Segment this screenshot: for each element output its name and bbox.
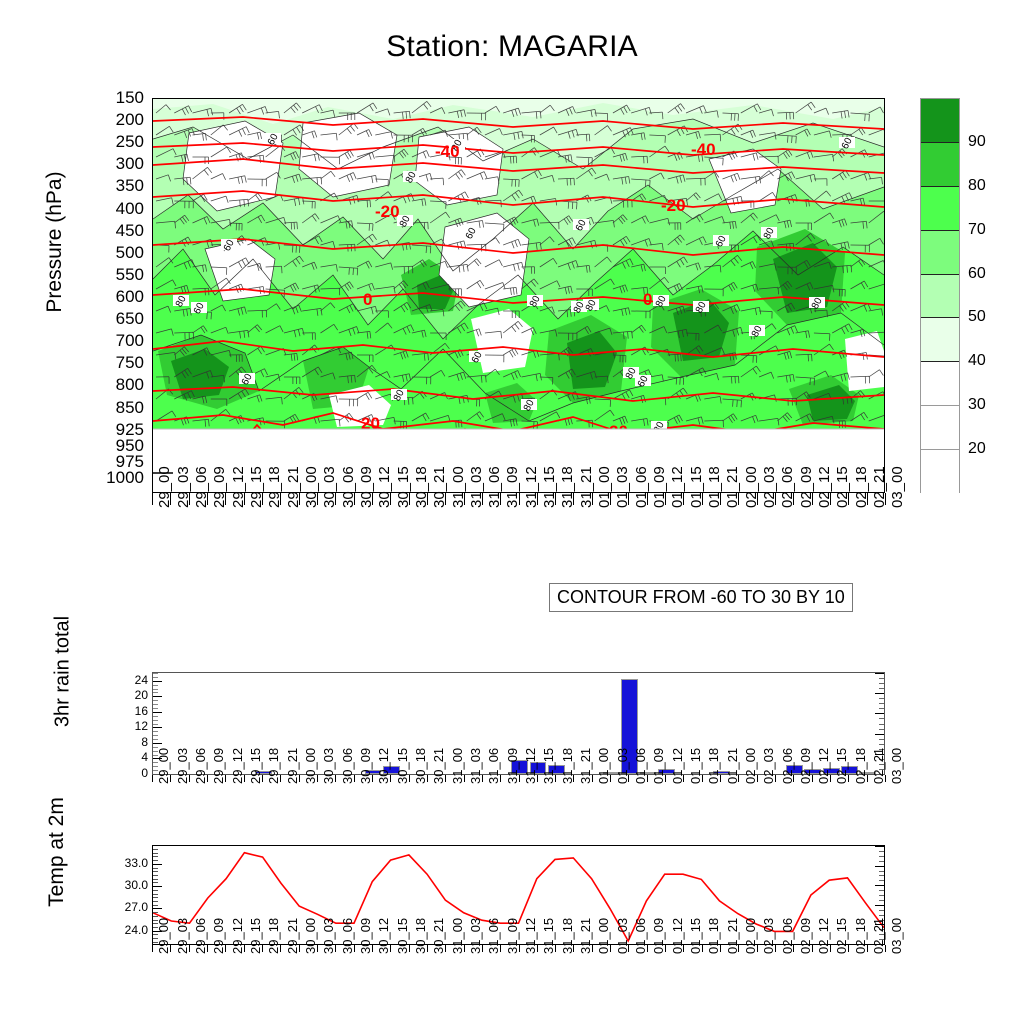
rain-panel-right-tick <box>875 734 884 735</box>
x-tick <box>280 775 281 782</box>
x-tick <box>885 775 886 782</box>
temp-panel-right-tick <box>879 856 884 857</box>
x-tick <box>830 945 831 952</box>
x-tick <box>867 775 868 782</box>
x-tick <box>152 945 153 952</box>
colorbar-band-3 <box>921 231 959 275</box>
temp-minor-tick <box>153 908 162 909</box>
x-tick <box>702 945 703 952</box>
temp-minor-tick <box>153 849 158 850</box>
x-tick <box>592 493 593 505</box>
rain-tick-4: 4 <box>104 751 148 763</box>
pressure-tick-300: 300 <box>84 155 144 172</box>
rain-panel-right-tick <box>879 739 884 740</box>
x-tick <box>573 945 574 952</box>
x-tick <box>427 493 428 505</box>
svg-text:0: 0 <box>643 290 652 309</box>
x-tick <box>555 775 556 782</box>
svg-text:0: 0 <box>363 290 372 309</box>
x-tick <box>335 493 336 505</box>
rain-axis-labels: 04812162024 <box>100 672 148 775</box>
colorbar-band-1 <box>921 143 959 187</box>
x-tick <box>500 493 501 505</box>
temp-axis-labels: 24.027.030.033.0 <box>92 845 148 945</box>
x-tick <box>757 493 758 505</box>
temp-panel-right-tick <box>879 895 884 896</box>
x-tick <box>299 493 300 505</box>
x-tick <box>170 775 171 782</box>
x-tick <box>665 493 666 505</box>
x-tick <box>244 945 245 952</box>
cross-section-x-axis: 29_0029_0329_0629_0929_1229_1529_1829_21… <box>152 493 885 583</box>
x-tick <box>409 493 410 505</box>
x-tick <box>683 945 684 952</box>
x-tick <box>757 775 758 782</box>
temp-minor-tick <box>153 897 158 898</box>
temp-minor-tick <box>153 890 158 891</box>
x-tick <box>244 493 245 505</box>
pressure-tick-150: 150 <box>84 89 144 106</box>
x-tick <box>317 945 318 952</box>
rain-minor-tick <box>153 704 158 705</box>
x-tick <box>152 775 153 782</box>
colorbar-band-6 <box>921 362 959 406</box>
x-tick <box>738 493 739 505</box>
temp-panel-right-tick <box>879 851 884 852</box>
x-tick <box>812 493 813 505</box>
x-tick <box>354 945 355 952</box>
temp-axis-title: Temp at 2m <box>45 737 69 967</box>
colorbar-band-7 <box>921 406 959 450</box>
x-tick <box>519 945 520 952</box>
humidity-colorbar <box>920 98 960 493</box>
x-tick <box>775 493 776 505</box>
x-tick <box>500 945 501 952</box>
rain-panel-right-tick <box>879 724 884 725</box>
x-tick <box>317 493 318 505</box>
x-tick <box>610 775 611 782</box>
x-tick <box>848 493 849 505</box>
rain-tick-0: 0 <box>104 767 148 779</box>
rain-minor-tick <box>153 689 158 690</box>
x-tick <box>354 493 355 505</box>
x-tick <box>354 775 355 782</box>
x-tick <box>628 945 629 952</box>
x-tick <box>720 775 721 782</box>
temp-panel-right-tick <box>879 915 884 916</box>
x-tick <box>830 775 831 782</box>
x-tick <box>390 945 391 952</box>
x-tick <box>848 945 849 952</box>
cross-section-svg: 60 60 60 60 60 60 60 60 60 60 80 80 80 8… <box>153 99 884 492</box>
x-tick <box>317 775 318 782</box>
temp-panel-right-tick <box>875 905 884 906</box>
x-tick <box>702 493 703 505</box>
x-tick <box>445 493 446 505</box>
temp-minor-tick <box>153 886 162 887</box>
contour-range-note: CONTOUR FROM -60 TO 30 BY 10 <box>549 583 853 612</box>
x-tick <box>152 493 153 505</box>
x-tick <box>189 493 190 505</box>
pressure-tick-1000: 1000 <box>84 469 144 486</box>
rain-panel-right-tick <box>879 688 884 689</box>
pressure-tick-550: 550 <box>84 266 144 283</box>
x-tick <box>207 945 208 952</box>
rain-minor-tick <box>153 681 162 682</box>
rain-minor-tick <box>153 720 158 721</box>
rain-panel-right-tick <box>879 729 884 730</box>
x-tick <box>390 493 391 505</box>
x-tick <box>592 945 593 952</box>
pressure-tick-250: 250 <box>84 133 144 150</box>
svg-text:-40: -40 <box>691 140 716 159</box>
temp-x-axis: 29_0029_0329_0629_0929_1229_1529_1829_21… <box>152 945 885 1015</box>
temp-minor-tick <box>153 916 158 917</box>
rain-minor-tick <box>153 700 158 701</box>
colorbar-band-4 <box>921 275 959 319</box>
pressure-tick-500: 500 <box>84 244 144 261</box>
temp-panel-right-tick <box>879 910 884 911</box>
rain-panel-right-tick <box>879 718 884 719</box>
x-tick <box>519 775 520 782</box>
x-tick <box>500 775 501 782</box>
x-tick <box>812 775 813 782</box>
colorbar-band-8 <box>921 450 959 494</box>
x-tick <box>482 945 483 952</box>
x-tick <box>280 945 281 952</box>
temp-minor-tick <box>153 901 158 902</box>
rain-tick-8: 8 <box>104 736 148 748</box>
pressure-tick-200: 200 <box>84 111 144 128</box>
rain-panel-right-tick <box>879 744 884 745</box>
x-tick <box>482 775 483 782</box>
x-tick <box>409 945 410 952</box>
pressure-tick-600: 600 <box>84 288 144 305</box>
temp-minor-tick <box>153 875 158 876</box>
colorbar-label-60: 60 <box>968 266 986 282</box>
rain-minor-tick <box>153 731 158 732</box>
x-tick <box>665 775 666 782</box>
x-tick <box>573 493 574 505</box>
rain-minor-tick <box>153 727 162 728</box>
x-tick <box>665 945 666 952</box>
x-tick <box>280 493 281 505</box>
x-tick <box>867 493 868 505</box>
x-tick <box>610 945 611 952</box>
pressure-tick-850: 850 <box>84 399 144 416</box>
x-tick <box>573 775 574 782</box>
x-tick <box>262 493 263 505</box>
rain-panel-right-tick <box>879 708 884 709</box>
x-tick <box>555 493 556 505</box>
x-tick <box>464 945 465 952</box>
temp-minor-tick <box>153 856 158 857</box>
x-tick <box>537 493 538 505</box>
x-tick <box>628 775 629 782</box>
temp-minor-tick <box>153 871 158 872</box>
rain-minor-tick <box>153 677 158 678</box>
x-tick <box>628 493 629 505</box>
rain-panel-right-tick <box>875 673 884 674</box>
temp-panel-right-tick <box>879 871 884 872</box>
svg-text:-20: -20 <box>661 196 686 215</box>
x-tick <box>189 775 190 782</box>
x-tick <box>445 945 446 952</box>
colorbar-band-2 <box>921 187 959 231</box>
rain-minor-tick <box>153 739 158 740</box>
colorbar-label-90: 90 <box>968 134 986 150</box>
rain-tick-20: 20 <box>104 689 148 701</box>
rain-panel-right-tick <box>875 713 884 714</box>
x-tick <box>793 775 794 782</box>
rain-minor-tick <box>153 743 162 744</box>
x-tick <box>372 775 373 782</box>
x-tick <box>848 775 849 782</box>
x-tick <box>793 493 794 505</box>
x-tick <box>189 945 190 952</box>
x-tick <box>445 775 446 782</box>
x-tick <box>299 775 300 782</box>
pressure-tick-800: 800 <box>84 376 144 393</box>
pressure-tick-350: 350 <box>84 177 144 194</box>
x-tick <box>885 945 886 952</box>
temp-panel-right-tick <box>879 900 884 901</box>
x-tick <box>207 775 208 782</box>
x-tick <box>244 775 245 782</box>
svg-text:-20: -20 <box>375 202 400 221</box>
x-tick <box>793 945 794 952</box>
colorbar-label-50: 50 <box>968 309 986 325</box>
rain-tick-16: 16 <box>104 705 148 717</box>
rain-tick-24: 24 <box>104 674 148 686</box>
temp-minor-tick <box>153 853 158 854</box>
x-tick <box>830 493 831 505</box>
x-tick <box>812 945 813 952</box>
x-tick <box>683 775 684 782</box>
x-tick <box>867 945 868 952</box>
cross-section-plot: 60 60 60 60 60 60 60 60 60 60 80 80 80 8… <box>152 98 885 493</box>
x-tick <box>775 945 776 952</box>
temp-tick-33.0: 33.0 <box>96 857 148 869</box>
colorbar-label-30: 30 <box>968 397 986 413</box>
colorbar-band-0 <box>921 99 959 143</box>
colorbar-label-80: 80 <box>968 178 986 194</box>
temp-minor-tick <box>153 894 158 895</box>
temp-panel-right-tick <box>875 866 884 867</box>
rain-panel-right-tick <box>875 693 884 694</box>
x-tick <box>702 775 703 782</box>
rain-minor-tick <box>153 708 158 709</box>
x-tick <box>482 493 483 505</box>
x-tick <box>610 493 611 505</box>
x-tick <box>225 775 226 782</box>
temp-panel-right-tick <box>875 846 884 847</box>
temp-panel-right-tick <box>875 885 884 886</box>
rain-panel-right-tick <box>879 683 884 684</box>
x-tick <box>335 945 336 952</box>
pressure-tick-750: 750 <box>84 354 144 371</box>
colorbar-label-20: 20 <box>968 441 986 457</box>
x-tick <box>720 945 721 952</box>
x-tick <box>738 945 739 952</box>
rain-minor-tick <box>153 724 158 725</box>
x-tick <box>372 493 373 505</box>
x-label-03_00: 03_00 <box>891 466 905 508</box>
temp-minor-tick <box>153 864 162 865</box>
x-tick <box>170 493 171 505</box>
rain-minor-tick <box>153 735 158 736</box>
pressure-tick-650: 650 <box>84 310 144 327</box>
x-label-03_00: 03_00 <box>890 918 904 954</box>
rain-minor-tick <box>153 692 158 693</box>
rain-tick-12: 12 <box>104 720 148 732</box>
x-tick <box>757 945 758 952</box>
rain-minor-tick <box>153 716 158 717</box>
x-tick <box>647 493 648 505</box>
pressure-axis-title: Pressure (hPa) <box>43 127 67 357</box>
rain-minor-tick <box>153 685 158 686</box>
x-tick <box>335 775 336 782</box>
rain-panel-right-tick <box>879 703 884 704</box>
pressure-tick-700: 700 <box>84 332 144 349</box>
x-tick <box>775 775 776 782</box>
temp-panel-right-tick <box>879 890 884 891</box>
x-tick <box>537 775 538 782</box>
x-tick <box>592 775 593 782</box>
x-tick <box>537 945 538 952</box>
x-tick <box>427 945 428 952</box>
x-tick <box>299 945 300 952</box>
x-tick <box>464 775 465 782</box>
x-tick <box>225 945 226 952</box>
temp-minor-tick <box>153 912 158 913</box>
x-tick <box>647 775 648 782</box>
colorbar-label-40: 40 <box>968 353 986 369</box>
colorbar-band-5 <box>921 318 959 362</box>
temp-minor-tick <box>153 879 158 880</box>
rain-x-axis: 29_0029_0329_0629_0929_1229_1529_1829_21… <box>152 775 885 845</box>
x-tick <box>207 493 208 505</box>
temp-minor-tick <box>153 882 158 883</box>
x-tick <box>555 945 556 952</box>
rain-minor-tick <box>153 673 158 674</box>
x-tick <box>647 945 648 952</box>
x-tick <box>683 493 684 505</box>
pressure-axis-labels: 1502002503003504004505005506006507007508… <box>78 98 144 493</box>
x-tick <box>225 493 226 505</box>
colorbar-label-70: 70 <box>968 222 986 238</box>
x-tick <box>390 775 391 782</box>
temp-panel-right-tick <box>879 861 884 862</box>
temp-panel-right-tick <box>879 880 884 881</box>
temp-minor-tick <box>153 860 158 861</box>
x-label-03_00: 03_00 <box>890 748 904 784</box>
page-title: Station: MAGARIA <box>0 30 1024 64</box>
temp-tick-30.0: 30.0 <box>96 879 148 891</box>
pressure-tick-450: 450 <box>84 222 144 239</box>
temp-minor-tick <box>153 868 158 869</box>
x-tick <box>262 775 263 782</box>
rain-minor-tick <box>153 712 162 713</box>
pressure-tick-400: 400 <box>84 200 144 217</box>
x-tick <box>262 945 263 952</box>
x-tick <box>409 775 410 782</box>
x-tick <box>464 493 465 505</box>
temp-tick-27.0: 27.0 <box>96 901 148 913</box>
svg-text:-40: -40 <box>435 142 460 161</box>
x-tick <box>170 945 171 952</box>
temp-minor-tick <box>153 905 158 906</box>
rain-panel-right-tick <box>879 678 884 679</box>
x-tick <box>720 493 721 505</box>
rain-minor-tick <box>153 696 162 697</box>
x-tick <box>427 775 428 782</box>
x-tick <box>738 775 739 782</box>
rain-panel-right-tick <box>879 698 884 699</box>
x-tick <box>885 493 886 505</box>
x-tick <box>372 945 373 952</box>
temp-panel-right-tick <box>879 875 884 876</box>
x-tick <box>519 493 520 505</box>
temp-tick-24.0: 24.0 <box>96 924 148 936</box>
